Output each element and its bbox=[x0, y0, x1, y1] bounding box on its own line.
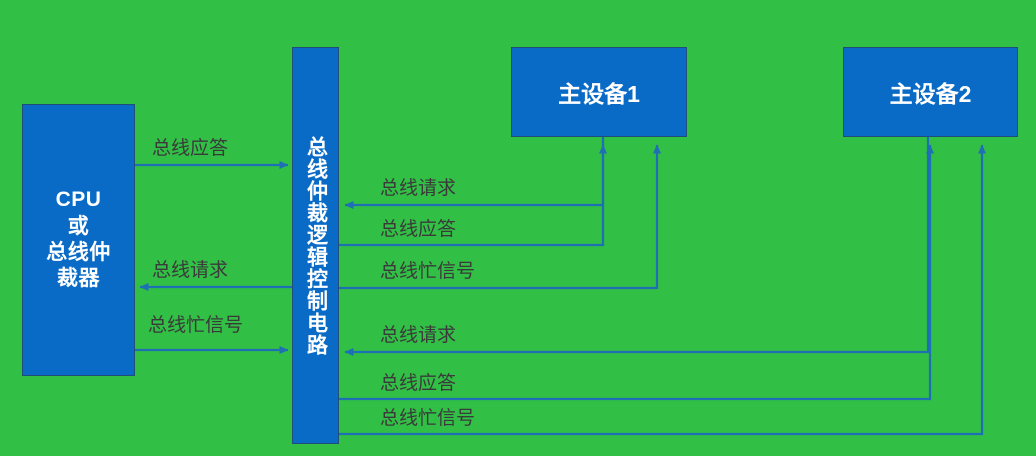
node-arbiter[interactable]: 总线仲裁逻辑控制电路 bbox=[292, 47, 339, 444]
edge-label-master1-to-arbiter-request: 总线请求 bbox=[380, 173, 456, 200]
edge-label-arbiter-to-master2-grant: 总线应答 bbox=[380, 368, 456, 395]
node-master2-label: 主设备2 bbox=[890, 75, 972, 109]
node-master2[interactable]: 主设备2 bbox=[843, 47, 1018, 137]
edge-label-cpu-to-arbiter-busy: 总线忙信号 bbox=[148, 310, 243, 337]
edge-label-arbiter-to-master1-grant: 总线应答 bbox=[380, 214, 456, 241]
edge-label-master2-to-arbiter-request: 总线请求 bbox=[380, 320, 456, 347]
edge-label-arbiter-master2-busy: 总线忙信号 bbox=[380, 403, 475, 430]
node-master1[interactable]: 主设备1 bbox=[511, 47, 687, 137]
node-cpu-label-line-1: CPU bbox=[46, 187, 111, 213]
diagram-canvas: CPU 或 总线仲 裁器 总线仲裁逻辑控制电路 主设备1 主设备2 总线应答 总… bbox=[0, 0, 1036, 456]
edge-label-cpu-to-arbiter-grant: 总线应答 bbox=[152, 133, 228, 160]
connector-arbiter-to-master1-grant bbox=[339, 145, 603, 245]
node-cpu[interactable]: CPU 或 总线仲 裁器 bbox=[22, 104, 135, 376]
node-cpu-label: CPU 或 总线仲 裁器 bbox=[46, 187, 111, 293]
node-arbiter-label: 总线仲裁逻辑控制电路 bbox=[304, 136, 326, 356]
node-cpu-label-line-3: 总线仲 bbox=[46, 240, 111, 266]
node-master1-label: 主设备1 bbox=[558, 75, 640, 109]
edge-label-arbiter-master1-busy: 总线忙信号 bbox=[380, 256, 475, 283]
node-cpu-label-line-2: 或 bbox=[46, 214, 111, 240]
node-cpu-label-line-4: 裁器 bbox=[46, 266, 111, 292]
edge-label-arbiter-to-cpu-request: 总线请求 bbox=[152, 255, 228, 282]
